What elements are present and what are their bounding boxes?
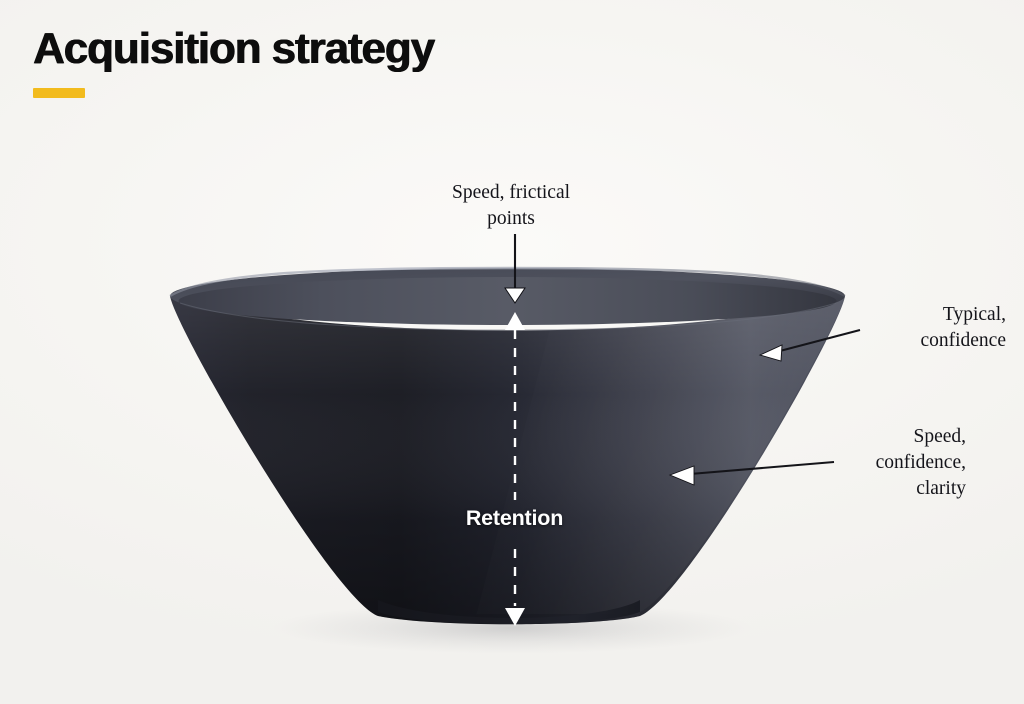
annotation-speed-frictical-points: Speed, frictical points [431, 180, 591, 232]
retention-label: Retention [0, 506, 1024, 531]
annotation-typical-confidence: Typical, confidence [866, 302, 1006, 354]
slide-canvas: Acquisition strategy [0, 0, 1024, 704]
annotation-speed-confidence-clarity: Speed, confidence, clarity [806, 424, 966, 502]
